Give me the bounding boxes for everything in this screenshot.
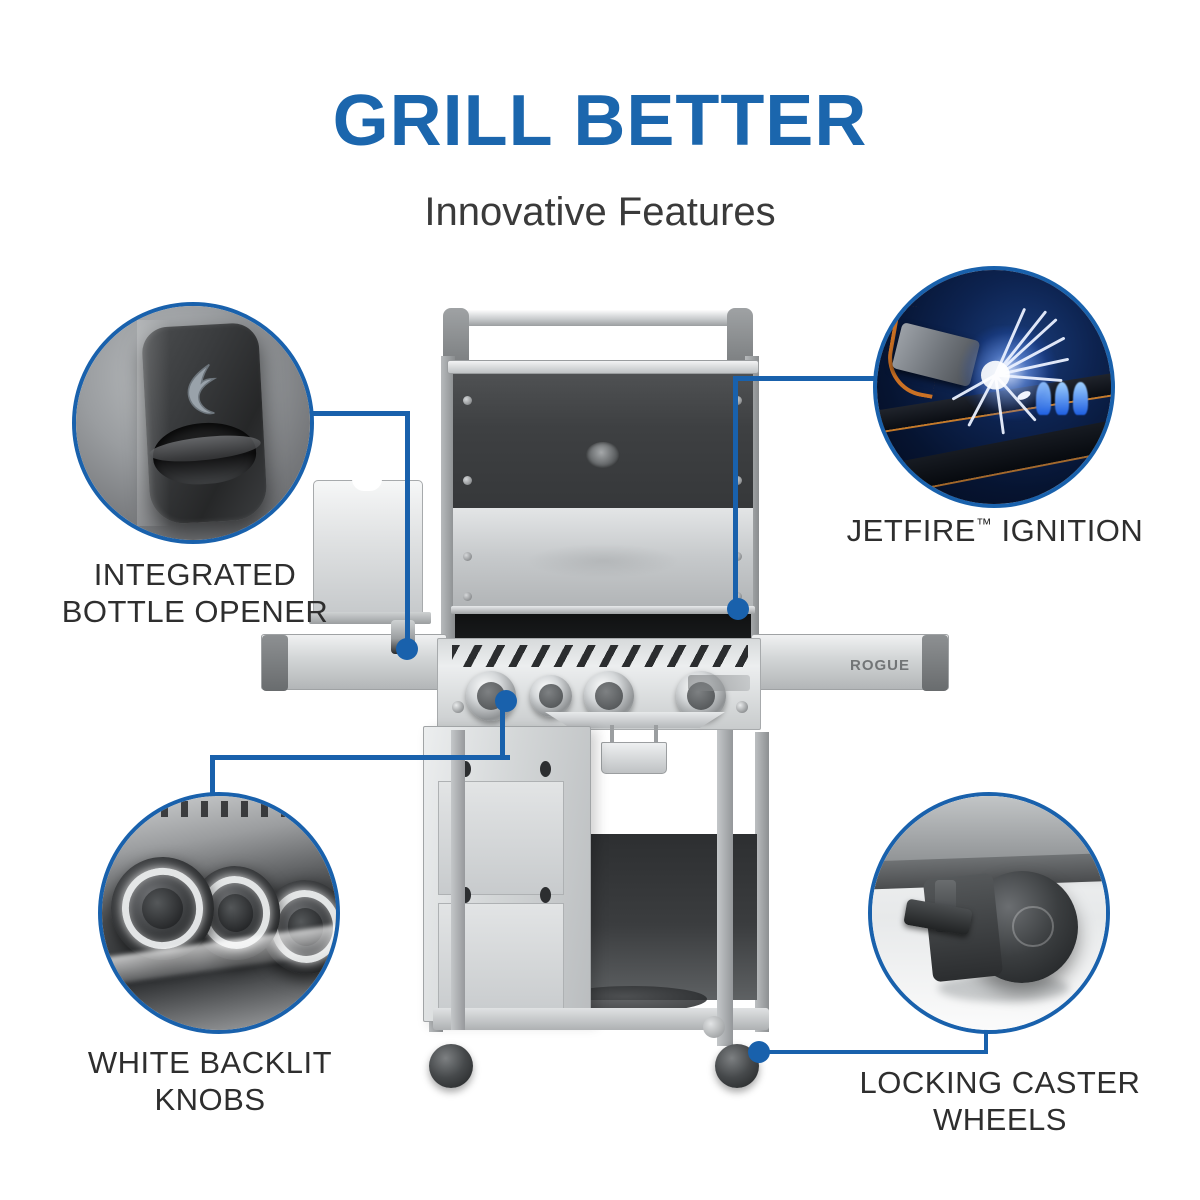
lid-top-rail [447,360,759,374]
callout-label-jetfire: JETFIRE™ IGNITION [800,512,1190,549]
lid-screw [463,476,472,485]
product-brand-label: ROGUE [850,657,910,674]
ignition-button-left[interactable] [452,701,464,713]
leader-dot-bottle-opener [396,638,418,660]
cart-leg-right [755,732,769,1032]
page-title: GRILL BETTER [0,85,1200,157]
lid-upper-panel [453,374,753,508]
lid-handle-bar [451,310,753,326]
caster-axle-mount [703,1016,725,1038]
lid-screw [463,396,472,405]
trademark-symbol: ™ [976,517,993,534]
napoleon-flame-icon [170,362,233,418]
side-shelf-right: ROGUE [751,634,949,690]
leader-dot-caster [748,1041,770,1063]
callout-locking-caster-wheels[interactable] [868,792,1110,1034]
cart-rear-leg [717,730,733,1046]
label-line-1: JETFIRE [847,513,976,548]
label-line-2: KNOBS [20,1081,400,1118]
brand-emboss-logo [528,544,678,578]
leader-line-jetfire-vertical [733,376,738,608]
control-panel-brand-logo [688,675,750,691]
leader-line-knobs-stem [500,700,505,758]
side-shelf-left [261,634,447,690]
label-line-1: WHITE BACKLIT [20,1044,400,1081]
control-panel-vents [452,645,748,667]
lid-vent-icon [586,442,620,468]
leader-dot-knobs [495,690,517,712]
label-line-2: IGNITION [1002,513,1144,548]
cooking-grate-edge [451,606,755,614]
grill-lid [447,360,759,660]
callout-label-bottle-opener: INTEGRATED BOTTLE OPENER [20,556,370,630]
infographic-canvas: GRILL BETTER Innovative Features [0,0,1200,1200]
page-subtitle: Innovative Features [0,192,1200,232]
callout-label-backlit-knobs: WHITE BACKLIT KNOBS [20,1044,400,1118]
grill-illustration: ROGUE [255,300,955,1090]
control-knob-2[interactable] [530,675,572,717]
ignition-button-right[interactable] [736,701,748,713]
caster-wheel-left [429,1044,473,1088]
cart-front-leg [451,730,465,1030]
leader-line-bottle-opener-vertical [405,411,410,646]
leader-dot-jetfire [727,598,749,620]
callout-white-backlit-knobs[interactable] [98,792,340,1034]
shelf-end-cap [262,635,288,691]
caster-wheel-photo [872,796,1106,1030]
door-rivet [540,887,551,903]
callout-integrated-bottle-opener[interactable] [72,302,314,544]
label-line-1: LOCKING CASTER [810,1064,1190,1101]
label-line-2: WHEELS [810,1101,1190,1138]
side-burner-lid-notch [352,479,382,491]
leader-line-knobs-horizontal [210,755,510,760]
jetfire-spark-photo [877,270,1111,504]
grease-cup [601,742,667,774]
bottle-opener-photo [76,306,310,540]
label-line-2: BOTTLE OPENER [20,593,370,630]
backlit-knobs-photo [102,796,336,1030]
leader-line-bottle-opener-horizontal [310,411,410,416]
grease-cup-arm [610,725,614,743]
cart-door-open[interactable] [423,726,591,1022]
lid-screw [463,552,472,561]
label-line-1: INTEGRATED [20,556,370,593]
lid-screw [463,592,472,601]
door-rivet [540,761,551,777]
leader-line-caster-horizontal [766,1050,988,1054]
spark-burst-icon [943,307,1074,438]
leader-line-jetfire-horizontal [733,376,881,381]
grease-cup-arm [654,725,658,743]
callout-jetfire-ignition[interactable] [873,266,1115,508]
shelf-end-cap [922,635,948,691]
callout-label-caster-wheels: LOCKING CASTER WHEELS [810,1064,1190,1138]
